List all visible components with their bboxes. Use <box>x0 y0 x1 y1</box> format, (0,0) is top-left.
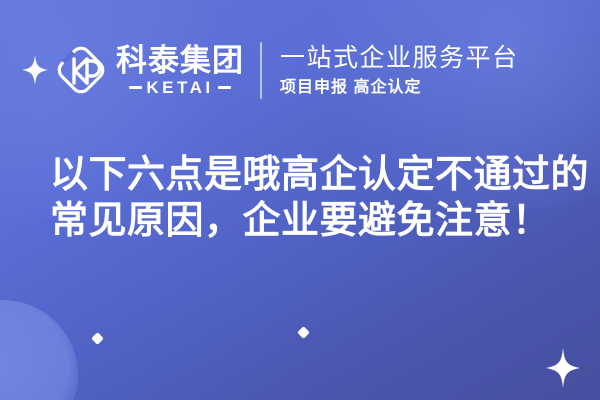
headline-line-2: 常见原因，企业要避免注意！ <box>50 198 550 244</box>
diamond-dot-icon <box>297 326 310 339</box>
brand-name-cn: 科泰集团 <box>116 44 244 78</box>
promo-banner: 科泰集团 KETAI 一站式企业服务平台 项目申报 高企认定 以下六点是哦高企认… <box>0 0 600 400</box>
sparkle-icon <box>22 55 48 85</box>
brand-wordmark: 科泰集团 KETAI <box>116 44 244 97</box>
brand-name-en-row: KETAI <box>116 79 244 97</box>
brand-name-en: KETAI <box>142 79 217 97</box>
rule-left <box>129 86 142 89</box>
brand-lockup: 科泰集团 KETAI <box>0 41 244 99</box>
diamond-dot-icon <box>91 332 104 345</box>
banner-header: 科泰集团 KETAI 一站式企业服务平台 项目申报 高企认定 <box>0 32 600 108</box>
background-blob-bottom-left <box>0 300 78 400</box>
headline-line-1: 以下六点是哦高企认定不通过的 <box>50 152 550 198</box>
sparkle-icon <box>546 348 580 388</box>
tagline-block: 一站式企业服务平台 项目申报 高企认定 <box>280 42 519 99</box>
ketai-diamond-logo-icon <box>52 41 110 99</box>
headline-block: 以下六点是哦高企认定不通过的 常见原因，企业要避免注意！ <box>50 152 550 244</box>
header-vertical-divider <box>260 42 262 99</box>
rule-right <box>218 86 231 89</box>
tagline-primary: 一站式企业服务平台 <box>280 42 519 75</box>
tagline-secondary: 项目申报 高企认定 <box>280 77 519 99</box>
